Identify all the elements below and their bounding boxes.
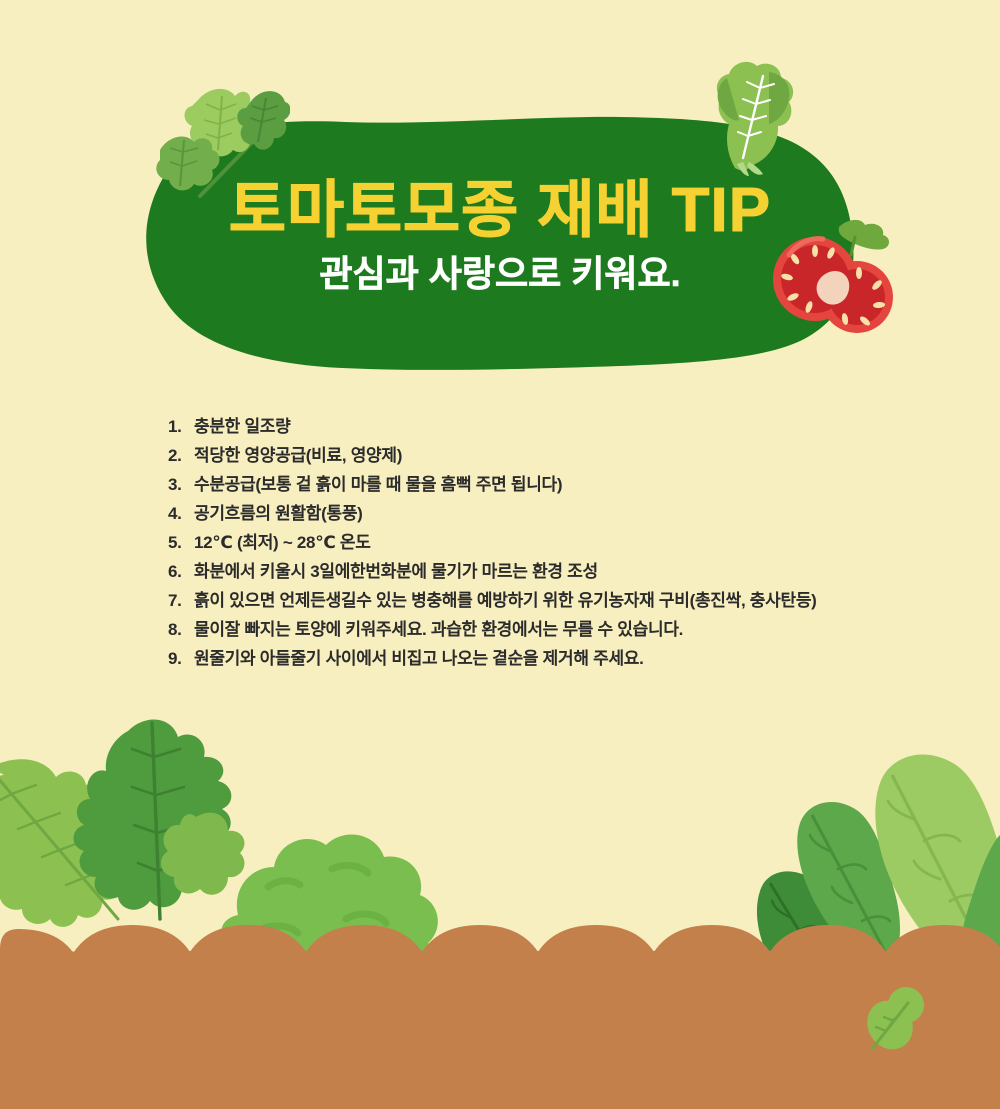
leaf-cluster-icon	[140, 78, 290, 198]
list-item: 1. 충분한 일조량	[168, 412, 988, 441]
list-item-text: 원줄기와 아들줄기 사이에서 비집고 나오는 곁순을 제거해 주세요.	[194, 644, 988, 673]
list-item: 6. 화분에서 키울시 3일에한번화분에 물기가 마르는 환경 조성	[168, 557, 988, 586]
list-item-text: 충분한 일조량	[194, 412, 988, 441]
list-item-number: 3.	[168, 470, 194, 499]
list-item-number: 2.	[168, 441, 194, 470]
list-item: 4. 공기흐름의 원활함(통풍)	[168, 499, 988, 528]
list-item-number: 9.	[168, 644, 194, 673]
list-item: 8. 물이잘 빠지는 토양에 키워주세요. 과습한 환경에서는 무를 수 있습니…	[168, 615, 988, 644]
list-item-text: 수분공급(보통 겉 흙이 마를 때 물을 흠뻑 주면 됩니다)	[194, 470, 988, 499]
soil-band	[0, 925, 1000, 1109]
list-item-number: 1.	[168, 412, 194, 441]
garden-scene	[0, 719, 1000, 1109]
list-item: 9. 원줄기와 아들줄기 사이에서 비집고 나오는 곁순을 제거해 주세요.	[168, 644, 988, 673]
list-item: 2. 적당한 영양공급(비료, 영양제)	[168, 441, 988, 470]
list-item-number: 6.	[168, 557, 194, 586]
list-item-text: 공기흐름의 원활함(통풍)	[194, 499, 988, 528]
poster-canvas: 토마토모종 재배 TIP 관심과 사랑으로 키워요. 1. 충분한 일조량 2.…	[0, 0, 1000, 1109]
list-item: 7. 흙이 있으면 언제든생길수 있는 병충해를 예방하기 위한 유기농자재 구…	[168, 586, 988, 615]
list-item-number: 5.	[168, 528, 194, 557]
tomato-slice-icon	[765, 215, 900, 350]
tip-list: 1. 충분한 일조량 2. 적당한 영양공급(비료, 영양제) 3. 수분공급(…	[168, 412, 988, 673]
list-item: 3. 수분공급(보통 겉 흙이 마를 때 물을 흠뻑 주면 됩니다)	[168, 470, 988, 499]
list-item-text: 화분에서 키울시 3일에한번화분에 물기가 마르는 환경 조성	[194, 557, 988, 586]
list-item-text: 물이잘 빠지는 토양에 키워주세요. 과습한 환경에서는 무를 수 있습니다.	[194, 615, 988, 644]
list-item-number: 8.	[168, 615, 194, 644]
list-item: 5. 12℃ (최저) ~ 28℃ 온도	[168, 528, 988, 557]
garden-illustration	[0, 719, 1000, 1109]
list-item-text: 12℃ (최저) ~ 28℃ 온도	[194, 528, 988, 557]
list-item-number: 4.	[168, 499, 194, 528]
header-section: 토마토모종 재배 TIP 관심과 사랑으로 키워요.	[0, 0, 1000, 400]
lettuce-leaf-icon	[683, 58, 808, 178]
list-item-text: 흙이 있으면 언제든생길수 있는 병충해를 예방하기 위한 유기농자재 구비(총…	[194, 586, 988, 615]
list-item-number: 7.	[168, 586, 194, 615]
list-item-text: 적당한 영양공급(비료, 영양제)	[194, 441, 988, 470]
arugula-leaves-icon	[0, 720, 244, 927]
